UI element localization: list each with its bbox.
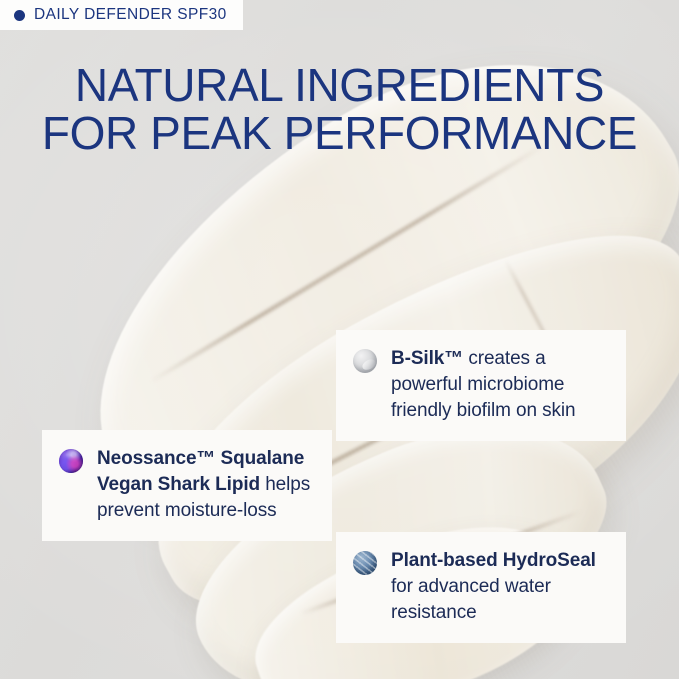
ingredient-callout-hydroseal: Plant-based HydroSeal for advanced water… [336,532,626,643]
hydroseal-sphere-icon [353,551,377,575]
product-feature-graphic: DAILY DEFENDER SPF30 NATURAL INGREDIENTS… [0,0,679,679]
ingredient-callout-text: Plant-based HydroSeal for advanced water… [391,548,608,626]
ingredient-name: Plant-based HydroSeal [391,550,596,571]
bsilk-sphere-icon [353,349,377,373]
filled-circle-icon [14,10,25,21]
product-badge-label: DAILY DEFENDER SPF30 [34,7,227,23]
ingredient-callout-text: Neossance™ Squalane Vegan Shark Lipid he… [97,446,314,524]
product-badge: DAILY DEFENDER SPF30 [0,0,243,30]
ingredient-name: B-Silk™ [391,348,463,369]
ingredient-description: for advanced water resistance [391,576,551,623]
ingredient-callout-text: B-Silk™ creates a powerful microbiome fr… [391,346,608,424]
ingredient-callout-bsilk: B-Silk™ creates a powerful microbiome fr… [336,330,626,441]
neossance-sphere-icon [59,449,83,473]
ingredient-callout-neossance: Neossance™ Squalane Vegan Shark Lipid he… [42,430,332,541]
